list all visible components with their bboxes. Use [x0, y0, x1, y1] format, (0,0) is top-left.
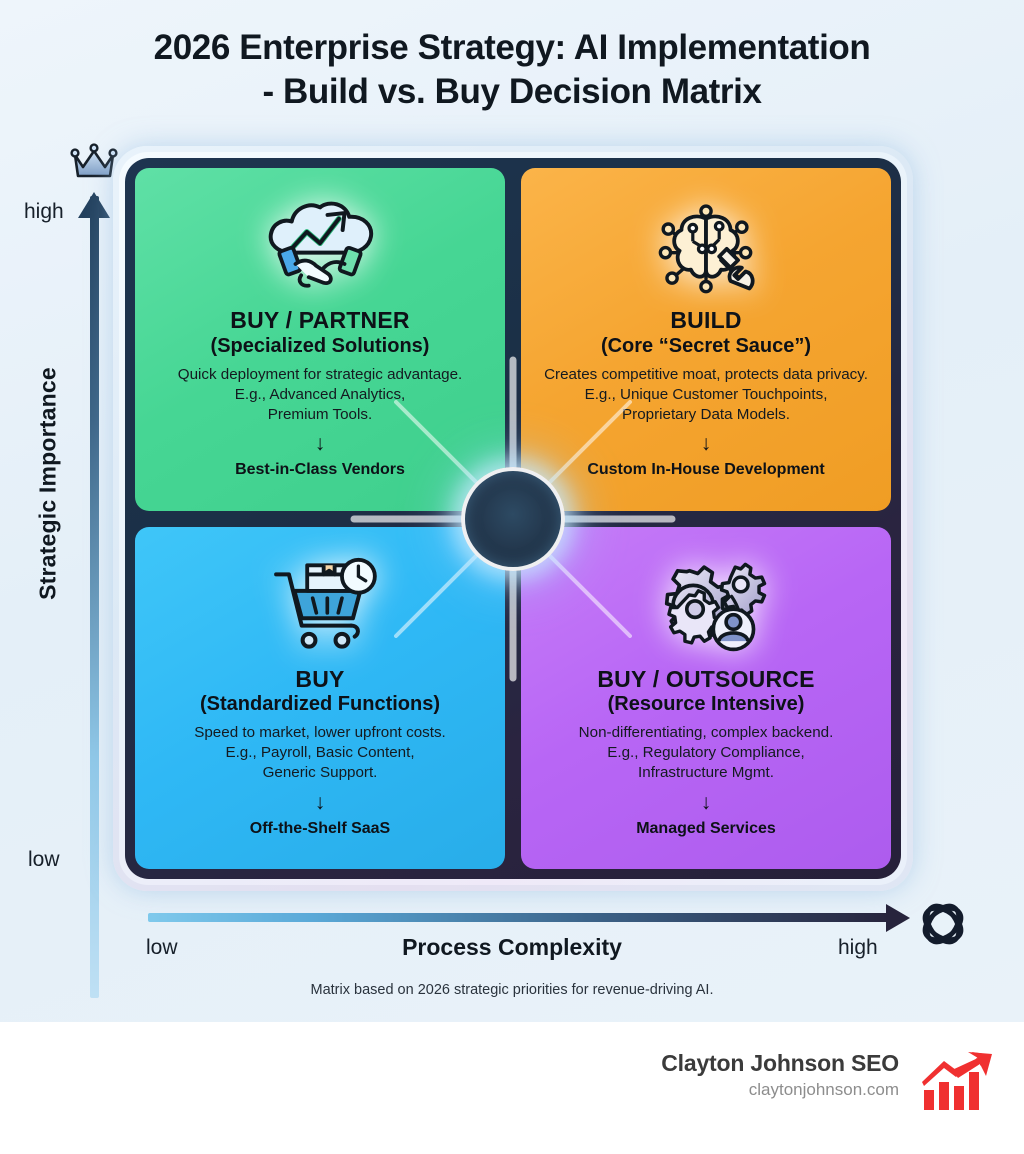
x-axis-low-label: low	[146, 936, 178, 960]
quadrant-outcome: Off-the-Shelf SaaS	[250, 820, 390, 838]
quadrant-subtitle: (Core “Secret Sauce”)	[601, 335, 811, 358]
gears-person-icon	[642, 547, 770, 665]
shopping-cart-box-clock-icon	[256, 547, 384, 665]
matrix-board: 2026 Enterprise Strategy: AI Implementat…	[0, 0, 1024, 1022]
down-arrow-icon: ↓	[315, 792, 326, 813]
brand-name: Clayton Johnson SEO	[661, 1050, 899, 1077]
down-arrow-icon: ↓	[701, 433, 712, 454]
x-axis-line	[148, 913, 890, 922]
quadrant-subtitle: (Specialized Solutions)	[211, 335, 430, 358]
quadrant-description: Creates competitive moat, protects data …	[544, 365, 868, 425]
infographic-page: 2026 Enterprise Strategy: AI Implementat…	[0, 0, 1024, 1154]
y-axis-title: Strategic Importance	[35, 319, 62, 649]
y-axis-low-label: low	[28, 848, 60, 872]
quadrant-subtitle: (Standardized Functions)	[200, 693, 440, 716]
brain-circuit-tools-icon	[640, 188, 772, 306]
x-axis-title: Process Complexity	[262, 934, 762, 961]
brand-website[interactable]: claytonjohnson.com	[661, 1080, 899, 1100]
quadrant-outcome: Custom In-House Development	[587, 461, 824, 479]
quadrant-subtitle: (Resource Intensive)	[608, 693, 805, 716]
quadrant-outcome: Best-in-Class Vendors	[235, 461, 405, 479]
matrix-frame-mid: BUY / PARTNER (Specialized Solutions) Qu…	[119, 152, 907, 885]
title-line-2: - Build vs. Buy Decision Matrix	[0, 70, 1024, 114]
openai-knot-icon	[912, 893, 974, 955]
crown-icon	[70, 143, 118, 181]
quadrant-buy[interactable]: BUY (Standardized Functions) Speed to ma…	[135, 527, 505, 870]
quadrant-title: BUY / OUTSOURCE	[597, 667, 814, 692]
x-axis-arrowhead	[886, 904, 910, 932]
quadrant-title: BUY	[295, 667, 344, 692]
quadrant-description: Quick deployment for strategic advantage…	[178, 365, 463, 425]
matrix-frame-inner: BUY / PARTNER (Specialized Solutions) Qu…	[125, 158, 901, 879]
down-arrow-icon: ↓	[315, 433, 326, 454]
page-title: 2026 Enterprise Strategy: AI Implementat…	[0, 26, 1024, 114]
center-hub	[461, 467, 565, 571]
cloud-handshake-growth-icon	[254, 188, 386, 306]
quadrant-description: Speed to market, lower upfront costs.E.g…	[194, 723, 446, 783]
matrix-frame: BUY / PARTNER (Specialized Solutions) Qu…	[113, 146, 913, 891]
bar-chart-growth-arrow-icon	[922, 1050, 994, 1112]
quadrant-buy-outsource[interactable]: BUY / OUTSOURCE (Resource Intensive) Non…	[521, 527, 891, 870]
title-line-1: 2026 Enterprise Strategy: AI Implementat…	[154, 28, 871, 67]
x-axis-high-label: high	[838, 936, 878, 960]
y-axis: high low Strategic Importance	[0, 140, 130, 900]
quadrant-buy-partner[interactable]: BUY / PARTNER (Specialized Solutions) Qu…	[135, 168, 505, 511]
quadrant-description: Non-differentiating, complex backend.E.g…	[579, 723, 834, 783]
y-axis-high-label: high	[24, 200, 64, 224]
brand-block: Clayton Johnson SEO claytonjohnson.com	[661, 1050, 899, 1100]
footer-bar: Clayton Johnson SEO claytonjohnson.com	[0, 1022, 1024, 1154]
y-axis-line	[90, 196, 99, 998]
footnote-caption: Matrix based on 2026 strategic prioritie…	[0, 982, 1024, 998]
quadrant-title: BUY / PARTNER	[230, 308, 409, 333]
quadrant-outcome: Managed Services	[636, 820, 776, 838]
quadrant-build[interactable]: BUILD (Core “Secret Sauce”) Creates comp…	[521, 168, 891, 511]
quadrant-title: BUILD	[670, 308, 741, 333]
down-arrow-icon: ↓	[701, 792, 712, 813]
